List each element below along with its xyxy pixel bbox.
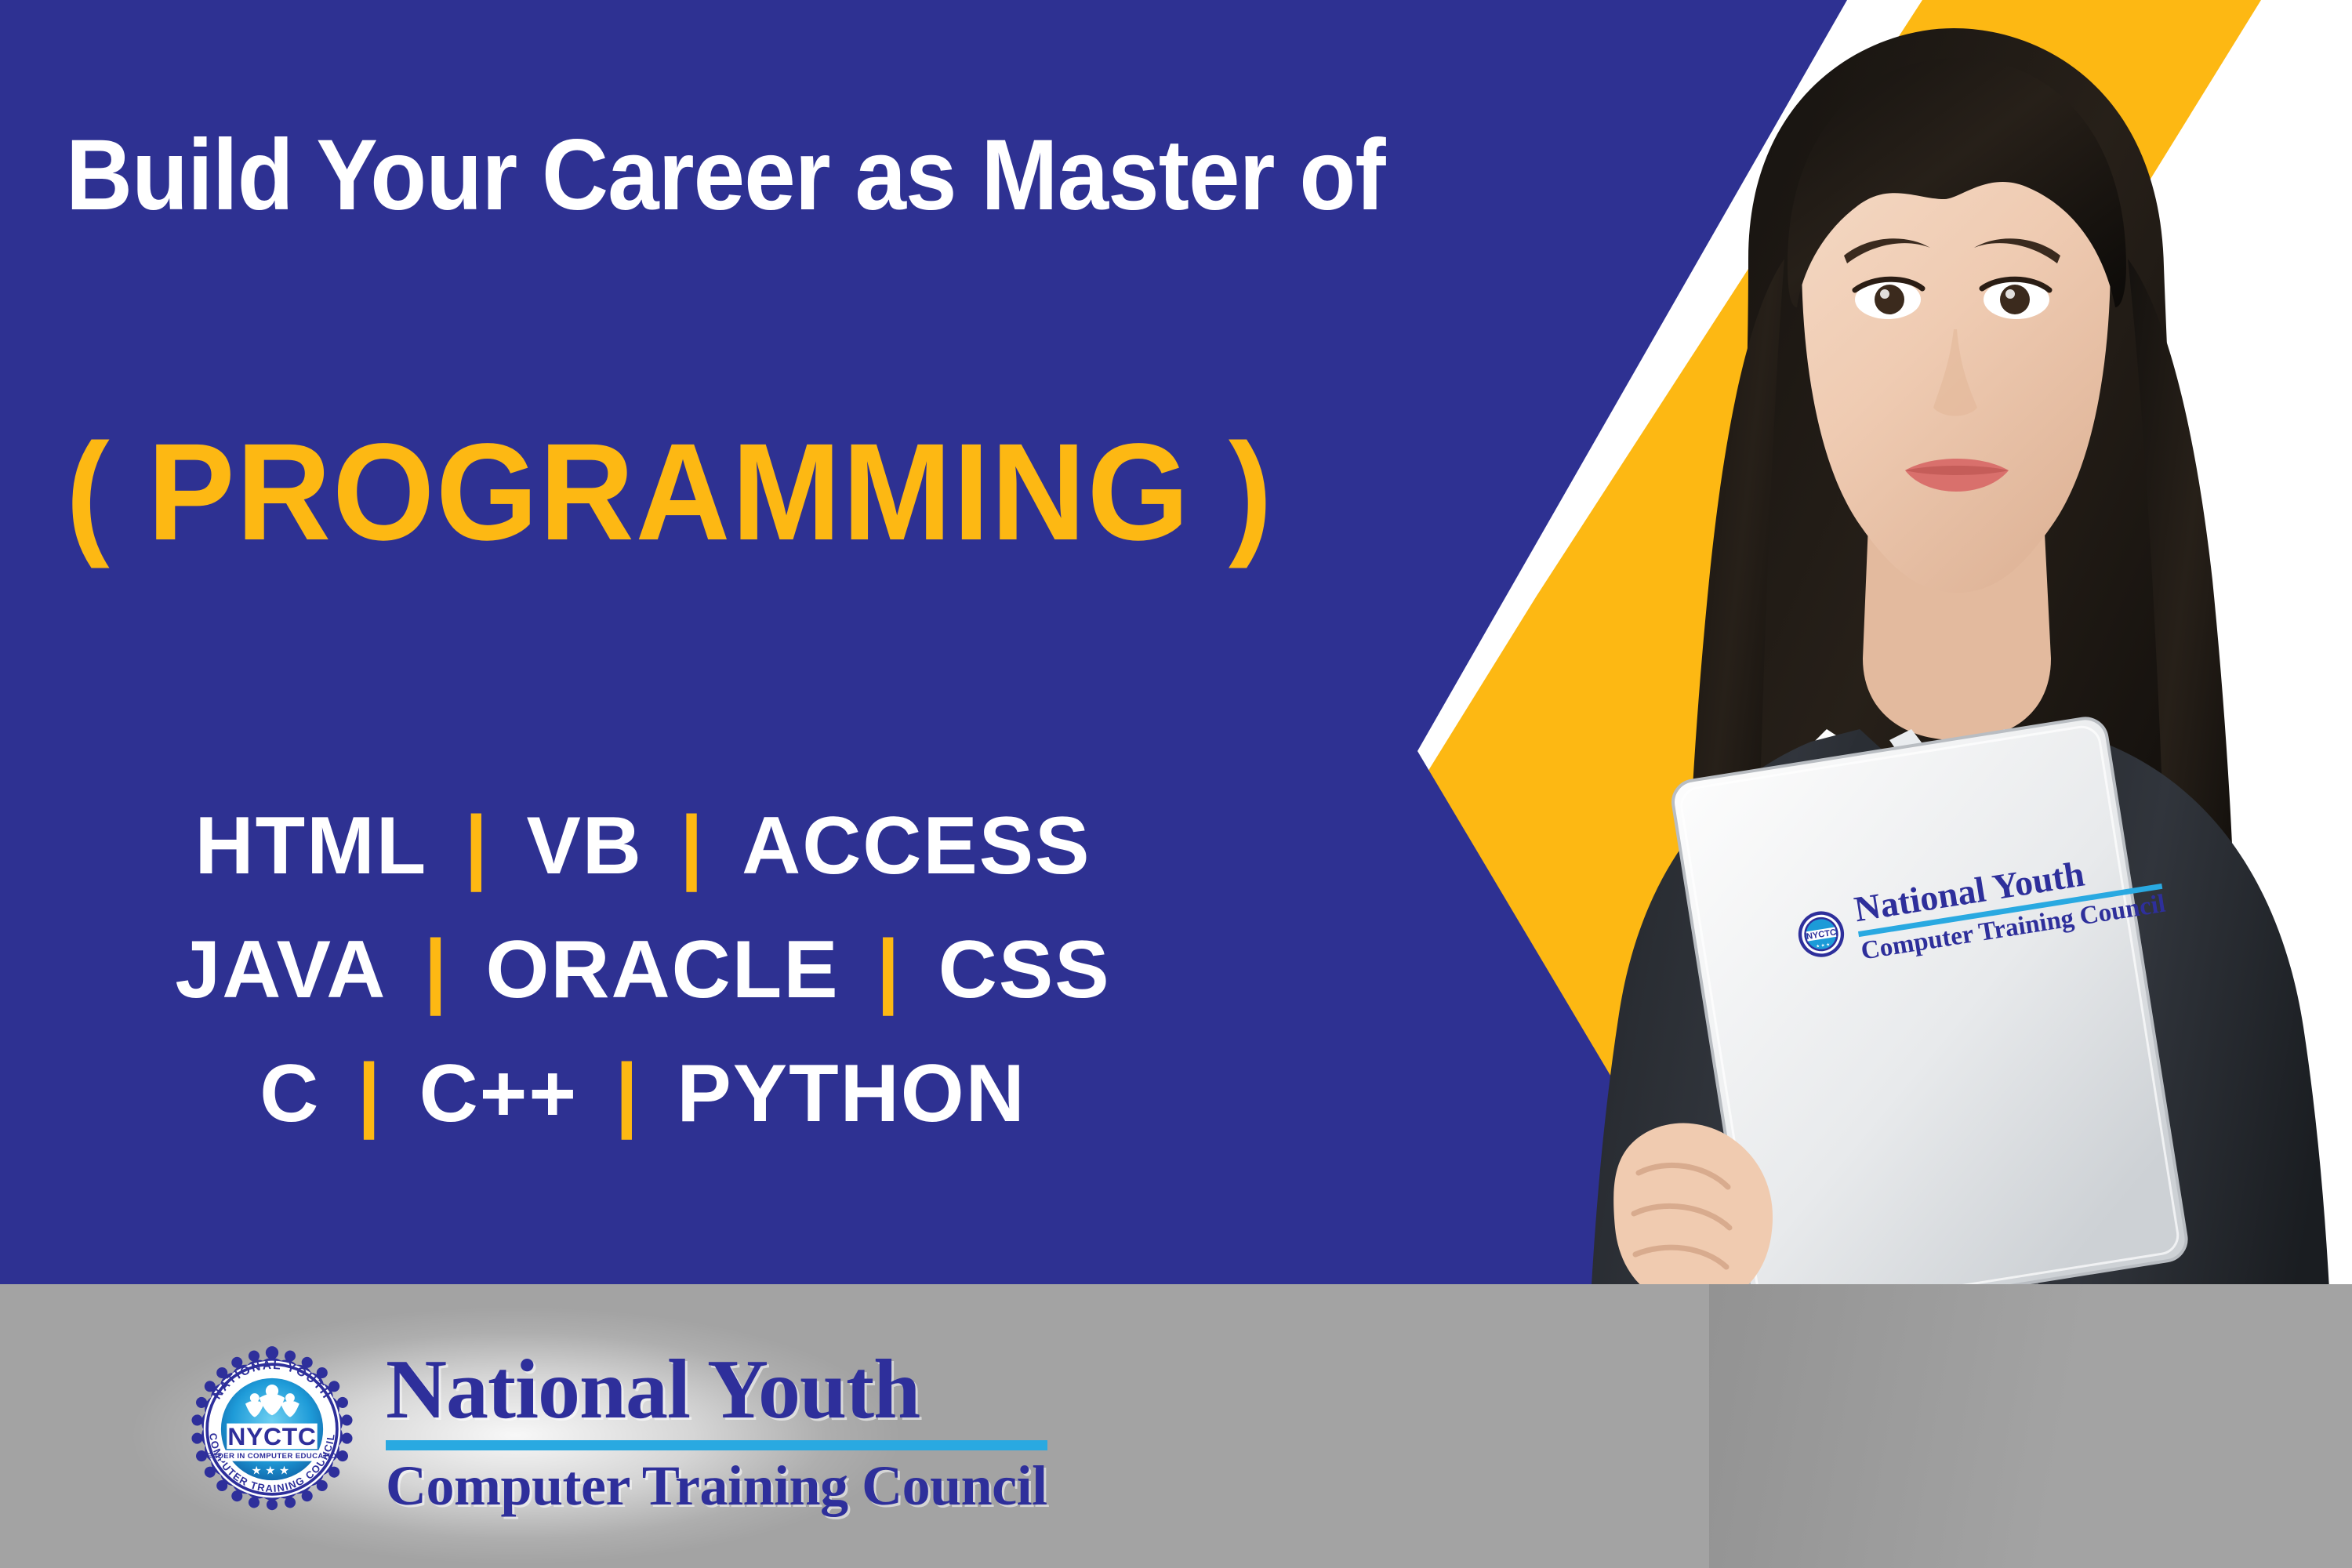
programming-word: PROGRAMMING bbox=[147, 416, 1191, 569]
seal-acronym: NYCTC bbox=[227, 1422, 316, 1450]
tech-item: ACCESS bbox=[742, 784, 1091, 908]
close-paren: ) bbox=[1229, 416, 1272, 569]
tech-item: ORACLE bbox=[486, 908, 840, 1032]
nyctc-seal-icon: NATIONAL YOUTH COMPUTER TRAINING COUNCIL bbox=[185, 1342, 359, 1516]
tech-item: C++ bbox=[419, 1032, 579, 1156]
tech-item: HTML bbox=[194, 784, 427, 908]
technology-list: HTML | VB | ACCESS JAVA | ORACLE | CSS C… bbox=[0, 784, 1286, 1156]
seal-tagline: LEADER IN COMPUTER EDUCATION bbox=[202, 1452, 343, 1461]
promotional-banner: NYCTC ★ ★ ★ National Youth Computer Trai… bbox=[0, 0, 2352, 1568]
footer-shadow bbox=[1709, 1284, 2352, 1568]
tech-row: JAVA | ORACLE | CSS bbox=[0, 908, 1286, 1032]
seal-stars: ★★★ bbox=[251, 1465, 292, 1478]
wordmark-rule bbox=[386, 1440, 1047, 1450]
tech-separator: | bbox=[344, 1031, 394, 1157]
tech-separator: | bbox=[667, 782, 717, 909]
tech-row: C | C++ | PYTHON bbox=[0, 1032, 1286, 1156]
tech-row: HTML | VB | ACCESS bbox=[0, 784, 1286, 908]
footer-logo: NATIONAL YOUTH COMPUTER TRAINING COUNCIL bbox=[185, 1342, 1047, 1516]
tech-separator: | bbox=[411, 906, 461, 1033]
tech-separator: | bbox=[452, 782, 502, 909]
wordmark-name-bottom: Computer Training Council bbox=[386, 1458, 1047, 1514]
tech-item: C bbox=[260, 1032, 320, 1156]
footer-wordmark: National Youth Computer Training Council bbox=[386, 1345, 1047, 1513]
open-paren: ( bbox=[66, 416, 110, 569]
laptop-nyctc-seal-icon: NYCTC ★ ★ ★ bbox=[1794, 906, 1849, 962]
tech-item: CSS bbox=[938, 908, 1111, 1032]
tech-item: JAVA bbox=[175, 908, 387, 1032]
tech-separator: | bbox=[602, 1031, 652, 1157]
wordmark-name-top: National Youth bbox=[386, 1349, 1047, 1431]
tech-item: VB bbox=[526, 784, 642, 908]
headline-line-1: Build Your Career as Master of bbox=[66, 125, 1617, 226]
tech-item: PYTHON bbox=[677, 1032, 1025, 1156]
tech-separator: | bbox=[864, 906, 914, 1033]
subheadline-programming: ( PROGRAMMING ) bbox=[66, 423, 1630, 561]
